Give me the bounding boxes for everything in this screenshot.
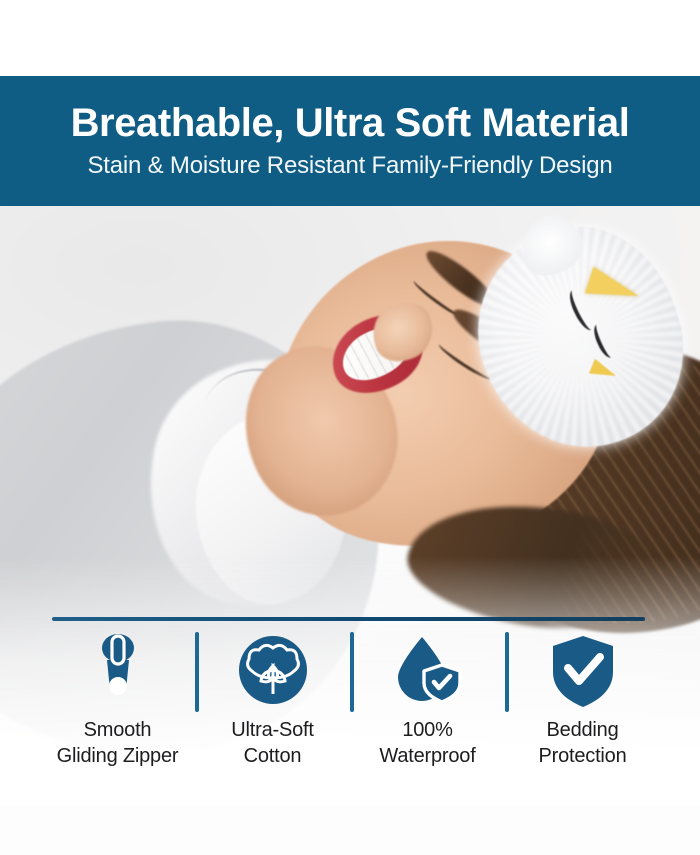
waterdrop-shield-icon [392, 632, 464, 708]
feature-smooth-gliding-zipper[interactable]: Smooth Gliding Zipper [40, 632, 195, 769]
feature-label: Ultra-Soft Cotton [231, 718, 313, 769]
banner-title: Breathable, Ultra Soft Material [71, 102, 630, 145]
shield-check-icon [549, 632, 617, 708]
bottom-white-strip [0, 806, 700, 855]
feature-label: Bedding Protection [538, 718, 626, 769]
top-white-strip [0, 0, 700, 76]
banner-subtitle: Stain & Moisture Resistant Family-Friend… [87, 152, 612, 181]
feature-label: Smooth Gliding Zipper [57, 718, 179, 769]
feature-divider-rule [52, 617, 645, 621]
feature-list: Smooth Gliding Zipper Ultra-Soft Cotton [40, 632, 660, 782]
feature-ultra-soft-cotton[interactable]: Ultra-Soft Cotton [195, 632, 350, 769]
headline-banner: Breathable, Ultra Soft Material Stain & … [0, 76, 700, 206]
feature-label: 100% Waterproof [379, 718, 475, 769]
cotton-boll-icon [237, 632, 309, 708]
feature-bedding-protection[interactable]: Bedding Protection [505, 632, 660, 769]
product-feature-banner: Breathable, Ultra Soft Material Stain & … [0, 0, 700, 855]
zipper-icon [96, 632, 140, 708]
feature-100-waterproof[interactable]: 100% Waterproof [350, 632, 505, 769]
